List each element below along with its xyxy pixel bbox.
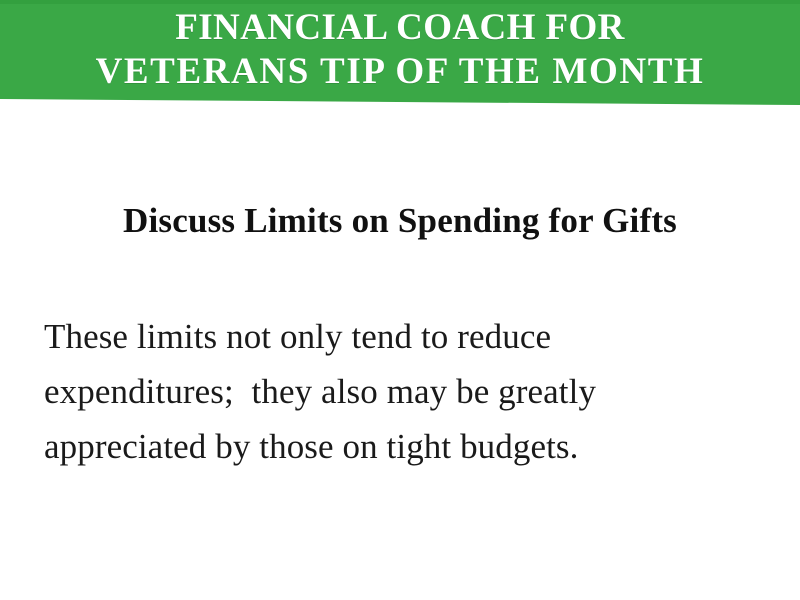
slide-body-text: These limits not only tend to reduce exp… xyxy=(44,309,744,474)
header-title-line-1: FINANCIAL COACH FOR xyxy=(0,6,800,50)
body-line-1: These limits not only tend to reduce xyxy=(44,309,744,364)
slide-subtitle: Discuss Limits on Spending for Gifts xyxy=(0,200,800,242)
header-banner: FINANCIAL COACH FOR VETERANS TIP OF THE … xyxy=(0,0,800,108)
header-title: FINANCIAL COACH FOR VETERANS TIP OF THE … xyxy=(0,6,800,94)
body-line-3: appreciated by those on tight budgets. xyxy=(44,419,744,474)
slide-canvas: FINANCIAL COACH FOR VETERANS TIP OF THE … xyxy=(0,0,800,600)
body-line-2: expenditures; they also may be greatly xyxy=(44,364,744,419)
header-top-stripe xyxy=(0,0,800,4)
footer: cfpb The information contained in this d… xyxy=(0,490,800,600)
header-title-line-2: VETERANS TIP OF THE MONTH xyxy=(0,50,800,94)
